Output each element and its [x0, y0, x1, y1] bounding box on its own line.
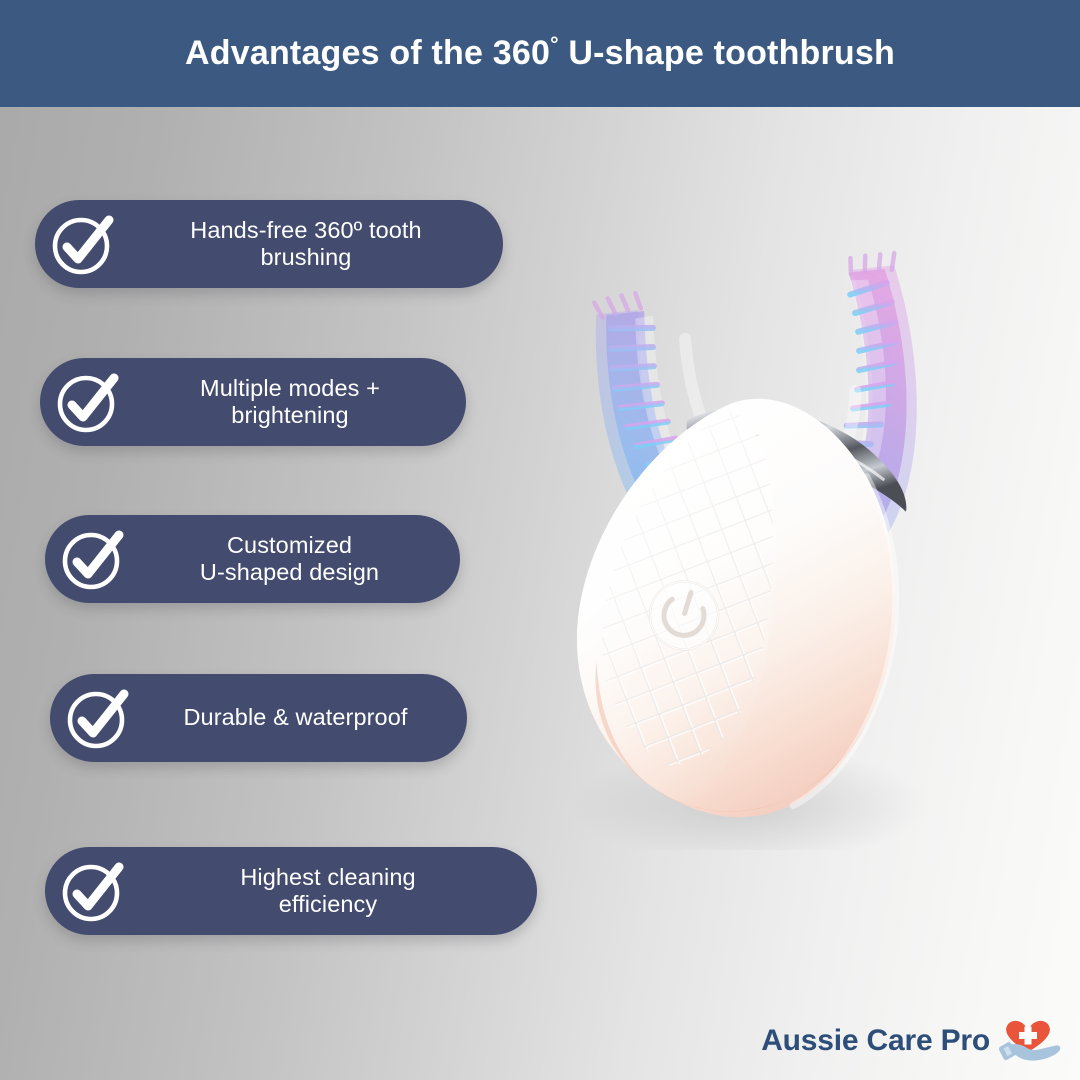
feature-pill-label: Durable & waterproof: [134, 704, 467, 731]
product-image: [520, 230, 1010, 850]
feature-pill[interactable]: Highest cleaningefficiency: [45, 847, 537, 935]
feature-line-2: efficiency: [279, 891, 378, 917]
feature-line-1: Multiple modes +: [200, 375, 380, 401]
feature-line-1: Highest cleaning: [240, 864, 415, 890]
check-circle-icon: [57, 855, 129, 927]
feature-pill-label: Multiple modes +brightening: [124, 375, 466, 430]
heart-in-hand-icon: [994, 1004, 1062, 1066]
check-circle-icon: [47, 208, 119, 280]
feature-line-2: U-shaped design: [200, 559, 379, 585]
feature-pill[interactable]: CustomizedU-shaped design: [45, 515, 460, 603]
check-circle-icon: [52, 366, 124, 438]
feature-line-1: Durable & waterproof: [183, 704, 407, 730]
feature-pill[interactable]: Multiple modes +brightening: [40, 358, 466, 446]
feature-line-2: brightening: [231, 402, 348, 428]
header-band: Advantages of the 360° U-shape toothbrus…: [0, 0, 1080, 107]
check-circle-icon: [62, 682, 134, 754]
feature-pill-label: CustomizedU-shaped design: [129, 532, 460, 587]
feature-line-1: Hands-free 360º tooth: [190, 217, 421, 243]
feature-pill-label: Hands-free 360º toothbrushing: [119, 217, 503, 272]
page-title: Advantages of the 360° U-shape toothbrus…: [185, 34, 895, 73]
feature-line-2: brushing: [261, 244, 352, 270]
feature-line-1: Customized: [227, 532, 352, 558]
page-title-prefix: Advantages of the 360: [185, 34, 550, 72]
feature-pill[interactable]: Hands-free 360º toothbrushing: [35, 200, 503, 288]
infographic-poster: Advantages of the 360° U-shape toothbrus…: [0, 0, 1080, 1080]
feature-pill-label: Highest cleaningefficiency: [129, 864, 537, 919]
feature-pill[interactable]: Durable & waterproof: [50, 674, 467, 762]
brand-logo: Aussie Care Pro: [761, 1004, 1062, 1066]
brand-name: Aussie Care Pro: [761, 1026, 990, 1066]
degree-symbol: °: [550, 34, 559, 57]
page-title-suffix: U-shape toothbrush: [559, 34, 895, 72]
check-circle-icon: [57, 523, 129, 595]
feature-list: Hands-free 360º toothbrushing Multiple m…: [0, 107, 560, 1080]
